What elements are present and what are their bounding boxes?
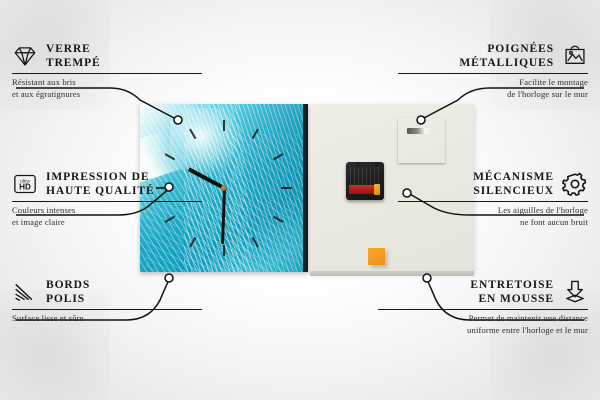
feature-header: ultra HD IMPRESSION DE HAUTE QUALITÉ [12,170,202,198]
feature-title: IMPRESSION DE HAUTE QUALITÉ [46,170,155,198]
feature-desc-line2: et image claire [12,217,65,227]
feature-title-line2: POLIS [46,293,85,305]
picture-frame-hook-icon [562,43,588,69]
diamond-icon [12,43,38,69]
feature-title-line2: MÉTALLIQUES [459,57,554,69]
hour-mark [224,187,292,189]
feature-divider [12,309,202,310]
feature-desc-line2: et aux égratignures [12,89,80,99]
feature-description: Surface lisse et sûre [12,313,202,324]
feature-mecanisme-silencieux: MÉCANISME SILENCIEUX Les aiguilles de l'… [398,170,588,228]
feature-header: VERRE TREMPÉ [12,42,202,70]
feature-desc-line1: Couleurs intenses [12,205,75,215]
feature-title: BORDS POLIS [46,278,90,306]
feature-desc-line1: Facilite le montage [519,77,588,87]
feature-title-line1: MÉCANISME [473,171,554,183]
feature-title-line1: IMPRESSION DE [46,171,149,183]
glass-right-edge [303,104,308,272]
feature-header: BORDS POLIS [12,278,202,306]
feature-description: Permet de maintenir une distance uniform… [378,313,588,336]
ultra-hd-badge-icon: ultra HD [12,171,38,197]
feature-title-line1: VERRE [46,43,91,55]
feature-header: MÉCANISME SILENCIEUX [398,170,588,198]
feature-title-line2: TREMPÉ [46,57,101,69]
feature-divider [398,73,588,74]
down-arrow-on-pad-icon [562,279,588,305]
feature-description: Les aiguilles de l'horloge ne font aucun… [398,205,588,228]
feature-description: Résistant aux bris et aux égratignures [12,77,202,100]
feature-divider [398,201,588,202]
feature-desc-line1: Résistant aux bris [12,77,76,87]
feature-title-line1: POIGNÉES [487,43,554,55]
feature-title-line1: BORDS [46,279,90,291]
feature-title-line2: SILENCIEUX [473,185,554,197]
feature-desc-line1: Les aiguilles de l'horloge [498,205,588,215]
hd-label: HD [19,183,31,192]
hour-mark [223,120,225,188]
feature-divider [12,73,202,74]
foam-spacer-pad [368,248,385,265]
bracket-slot [407,128,433,134]
feature-verre-trempe: VERRE TREMPÉ Résistant aux bris et aux é… [12,42,202,100]
infographic-canvas: VERRE TREMPÉ Résistant aux bris et aux é… [0,0,600,400]
feature-header: POIGNÉES MÉTALLIQUES [398,42,588,70]
feature-title: POIGNÉES MÉTALLIQUES [459,42,554,70]
feature-description: Couleurs intenses et image claire [12,205,202,228]
feature-title-line1: ENTRETOISE [470,279,554,291]
feature-header: ENTRETOISE EN MOUSSE [378,278,588,306]
panel-base-edge [310,271,474,276]
feature-title-line2: EN MOUSSE [478,293,554,305]
gear-icon [562,171,588,197]
feature-divider [12,201,202,202]
feature-desc-line2: de l'horloge sur le mur [507,89,588,99]
feature-divider [378,309,588,310]
metal-hanger-bracket [398,118,445,163]
feature-bords-polis: BORDS POLIS Surface lisse et sûre [12,278,202,325]
feature-title: VERRE TREMPÉ [46,42,101,70]
feature-desc-line2: ne font aucun bruit [520,217,588,227]
feature-title: ENTRETOISE EN MOUSSE [470,278,554,306]
aa-battery [349,185,377,194]
feature-desc-line1: Surface lisse et sûre [12,313,84,323]
hands-center-pin [221,185,227,191]
feature-title: MÉCANISME SILENCIEUX [473,170,554,198]
battery-terminal [374,184,380,195]
feature-poignees-metalliques: POIGNÉES MÉTALLIQUES Facilite le montage… [398,42,588,100]
feature-entretoise-en-mousse: ENTRETOISE EN MOUSSE Permet de maintenir… [378,278,588,336]
feature-description: Facilite le montage de l'horloge sur le … [398,77,588,100]
feature-title-line2: HAUTE QUALITÉ [46,185,155,197]
quartz-movement-box [346,162,384,200]
feature-desc-line2: uniforme entre l'horloge et le mur [467,325,588,335]
polished-edge-lines-icon [12,279,38,305]
movement-texture [350,167,380,185]
feature-impression-haute-qualite: ultra HD IMPRESSION DE HAUTE QUALITÉ Cou… [12,170,202,228]
feature-desc-line1: Permet de maintenir une distance [469,313,588,323]
